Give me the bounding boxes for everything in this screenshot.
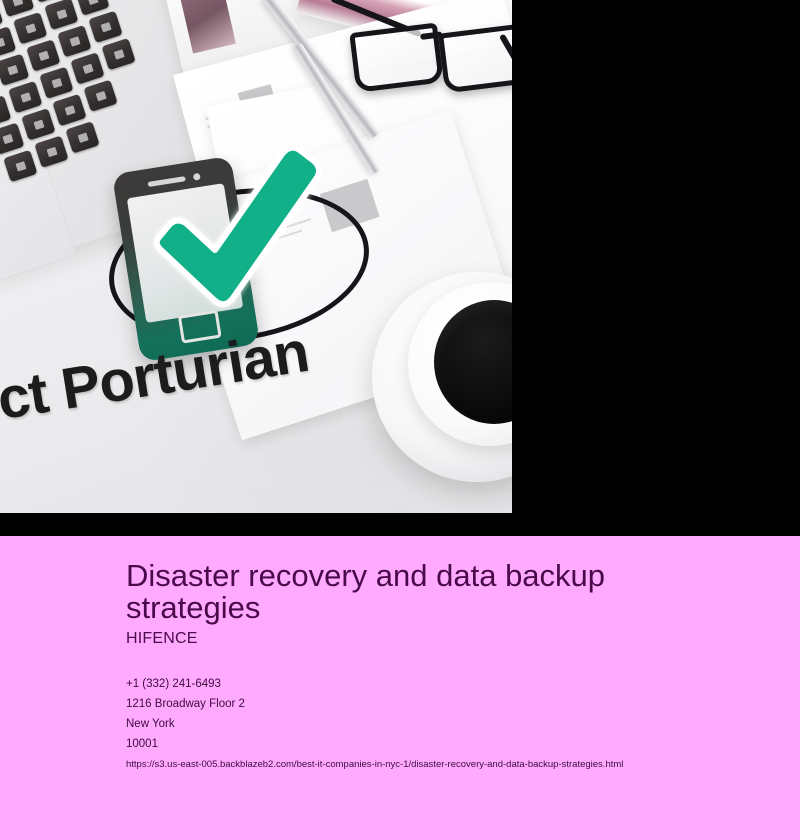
contact-city: New York bbox=[126, 714, 776, 734]
contact-zip: 10001 bbox=[126, 734, 776, 754]
checkmark-icon bbox=[140, 140, 330, 330]
page-title: Disaster recovery and data backup strate… bbox=[126, 560, 656, 624]
contact-phone[interactable]: +1 (332) 241-6493 bbox=[126, 674, 776, 694]
hero-image: ct Porturian bbox=[0, 0, 512, 513]
page-root: ct Porturian Disaster recovery and data … bbox=[0, 0, 800, 840]
info-panel: Disaster recovery and data backup strate… bbox=[0, 536, 800, 840]
page-url[interactable]: https://s3.us-east-005.backblazeb2.com/b… bbox=[126, 756, 776, 774]
contact-address-line1: 1216 Broadway Floor 2 bbox=[126, 694, 776, 714]
porturian-logo: ct Porturian bbox=[88, 146, 388, 416]
company-name: HIFENCE bbox=[126, 630, 776, 648]
